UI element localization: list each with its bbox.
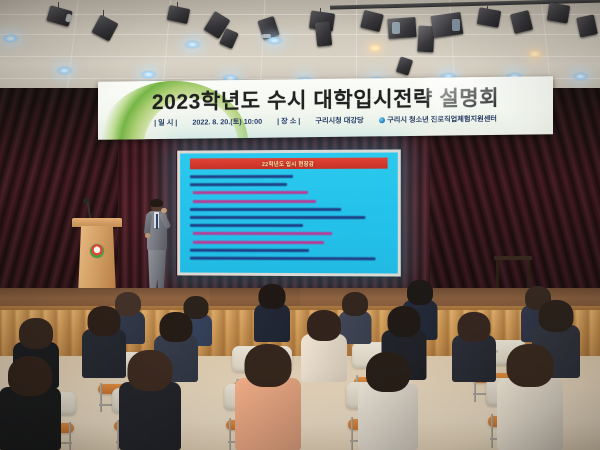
audience-head: [507, 344, 554, 387]
audience-member: [358, 352, 418, 450]
audience-member: [452, 312, 496, 382]
audience-head: [259, 284, 286, 309]
audience-torso: [119, 382, 181, 450]
audience-head: [366, 352, 410, 392]
audience-torso: [301, 334, 347, 382]
audience-head: [539, 300, 574, 332]
audience-torso: [452, 335, 496, 382]
chair-leg: [100, 383, 102, 412]
audience-torso: [235, 378, 301, 450]
chair-leg: [351, 417, 353, 450]
chair-leg: [69, 422, 71, 450]
audience-torso: [0, 387, 61, 450]
audience-head: [160, 312, 193, 342]
audience-head: [407, 280, 433, 305]
chair-leg: [229, 418, 231, 450]
audience-torso: [497, 378, 563, 450]
audience: [0, 0, 600, 450]
audience-head: [388, 306, 421, 337]
auditorium-presentation-photo: 2023학년도 수시 대학입시전략 설명회 | 일 시 | 2022. 8. 2…: [0, 0, 600, 450]
audience-member: [497, 344, 563, 450]
audience-member: [254, 284, 290, 342]
audience-member: [301, 310, 347, 382]
audience-torso: [358, 383, 418, 450]
audience-head: [8, 356, 52, 396]
audience-head: [307, 310, 341, 341]
audience-member: [119, 350, 181, 450]
audience-head: [245, 344, 292, 387]
audience-member: [235, 344, 301, 450]
audience-head: [88, 306, 121, 336]
audience-head: [458, 312, 491, 342]
audience-member: [0, 356, 61, 450]
audience-head: [19, 318, 53, 349]
audience-torso: [254, 304, 290, 343]
chair-leg: [491, 414, 493, 448]
audience-head: [128, 350, 173, 391]
